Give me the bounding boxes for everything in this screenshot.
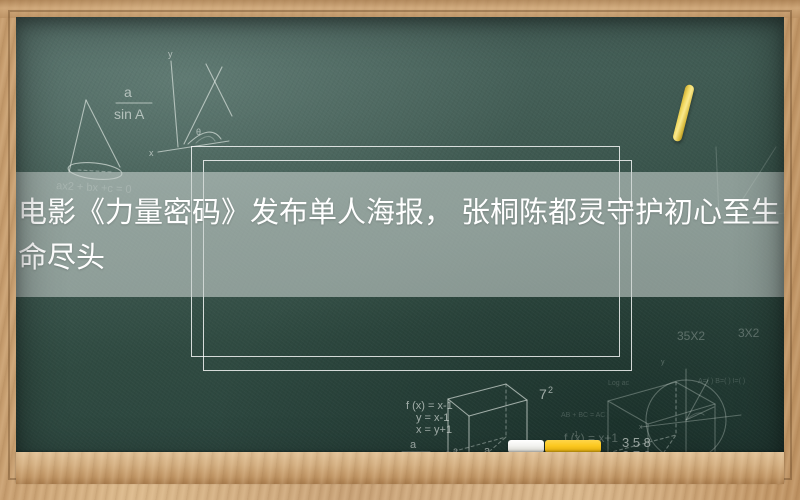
chalk-matrix-note: A=( ) B=( ) I=( ) xyxy=(698,378,745,385)
chalk-fraction2-num: a xyxy=(410,439,417,451)
chalk-fx-line2: y = x-1 xyxy=(416,412,449,424)
chalkboard: a sin A ax2 + bx +c = 0 y x θ f (x) = x-… xyxy=(16,17,784,468)
chalk-circle-axis-x: x xyxy=(639,424,643,431)
chalk-segment-note: AB + BC = AC xyxy=(561,412,605,419)
chalk-fx-line3: x = y+1 xyxy=(416,424,452,436)
page-title: 电影《力量密码》发布单人海报， 张桐陈都灵守护初心至生命尽头 xyxy=(18,191,782,281)
chalk-sum-top: 3 5 8 xyxy=(622,435,651,450)
chalk-inverse-exp: -1 xyxy=(572,431,578,438)
chalk-fraction-numerator: a xyxy=(124,84,132,100)
chalk-axis-x-label: x xyxy=(149,148,154,158)
poster-canvas: a sin A ax2 + bx +c = 0 y x θ f (x) = x-… xyxy=(0,0,800,500)
yellow-chalk-stick xyxy=(672,84,695,142)
chalk-fraction-denominator: sin A xyxy=(114,106,145,122)
chalk-axis-y-label: y xyxy=(168,49,173,59)
chalk-tray-ledge xyxy=(16,452,784,484)
chalk-fx-line1: f (x) = x-1 xyxy=(406,400,453,412)
chalk-theta-label: θ xyxy=(196,127,201,137)
chalk-power-7: 7 xyxy=(539,386,547,402)
chalk-label-3x2: 3X2 xyxy=(738,326,760,340)
chalk-label-35x2: 35X2 xyxy=(677,329,705,343)
chalk-power-7-exp: 2 xyxy=(548,385,553,395)
headline-container: 电影《力量密码》发布单人海报， 张桐陈都灵守护初心至生命尽头 xyxy=(16,175,784,297)
chalk-circle-axis-y: y xyxy=(661,359,665,366)
chalk-log-ac: Log ac xyxy=(608,380,630,387)
